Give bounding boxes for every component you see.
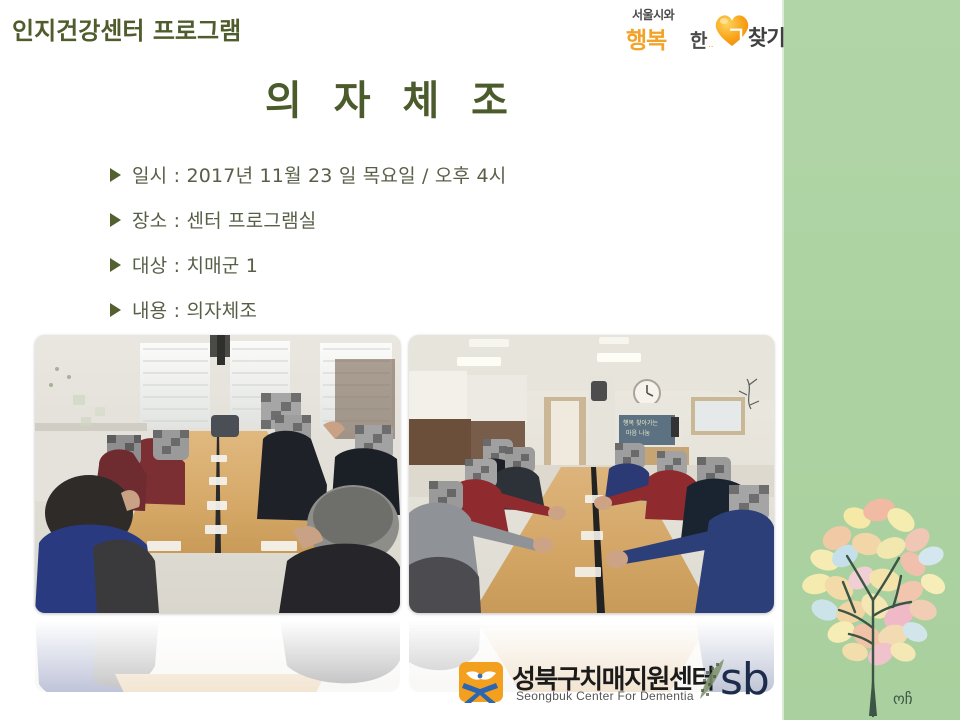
panel-left-edge [782, 0, 784, 720]
list-item: 일시 : 2017년 11월 23 일 목요일 / 오후 4시 [110, 152, 750, 197]
list-item-label: 일시 : 2017년 11월 23 일 목요일 / 오후 4시 [132, 161, 506, 188]
artist-signature: ოჩ [893, 690, 913, 708]
list-item-label: 대상 : 치매군 1 [132, 251, 258, 278]
triangle-bullet-icon [110, 213, 121, 227]
photo-right-content: 행복 찾아가는 마음 나눔 [409, 335, 774, 613]
photo-chair-exercise-left [35, 335, 400, 613]
info-bullet-list: 일시 : 2017년 11월 23 일 목요일 / 오후 4시 장소 : 센터 … [110, 152, 750, 332]
list-item-label: 내용 : 의자체조 [132, 296, 257, 323]
svg-text:ოჩ: ოჩ [893, 690, 913, 708]
footer-center-name-en: Seongbuk Center For Dementia [516, 689, 694, 703]
triangle-bullet-icon [110, 258, 121, 272]
seoul-logo-line2: 행복 [626, 21, 666, 55]
footer-organization-logo: 성북구치매지원센터 Seongbuk Center For Dementia s… [458, 655, 768, 711]
list-item: 장소 : 센터 프로그램실 [110, 197, 750, 242]
list-item: 대상 : 치매군 1 [110, 242, 750, 287]
seoul-logo-line3: 찾기 [748, 22, 785, 52]
seongbuk-center-mark-icon [458, 659, 504, 705]
triangle-bullet-icon [110, 168, 121, 182]
svg-text:행복 찾아가는: 행복 찾아가는 [623, 419, 659, 427]
svg-text:마음 나눔: 마음 나눔 [626, 429, 650, 437]
page-title: 의 자 체 조 [0, 68, 782, 126]
pastel-tree-illustration: ოჩ [795, 460, 955, 718]
page-header-title: 인지건강센터 프로그램 [12, 11, 241, 46]
photo-left-content [35, 335, 400, 613]
slide-canvas: ოჩ 인지건강센터 프로그램 서울시와 행복 한 .. ㄱ 찾기 의 자 체 조 [0, 0, 960, 720]
sb-logo-text: sb [720, 654, 769, 705]
heart-letter: ㄱ [727, 18, 745, 47]
list-item: 내용 : 의자체조 [110, 287, 750, 332]
photo-left-reflection [35, 614, 400, 692]
seoul-happy-logo: 서울시와 행복 한 .. ㄱ 찾기 [624, 6, 784, 54]
seoul-logo-hanja: 한 [690, 26, 707, 53]
triangle-bullet-icon [110, 303, 121, 317]
photo-chair-exercise-right: 행복 찾아가는 마음 나눔 [409, 335, 774, 613]
list-item-label: 장소 : 센터 프로그램실 [132, 206, 316, 233]
